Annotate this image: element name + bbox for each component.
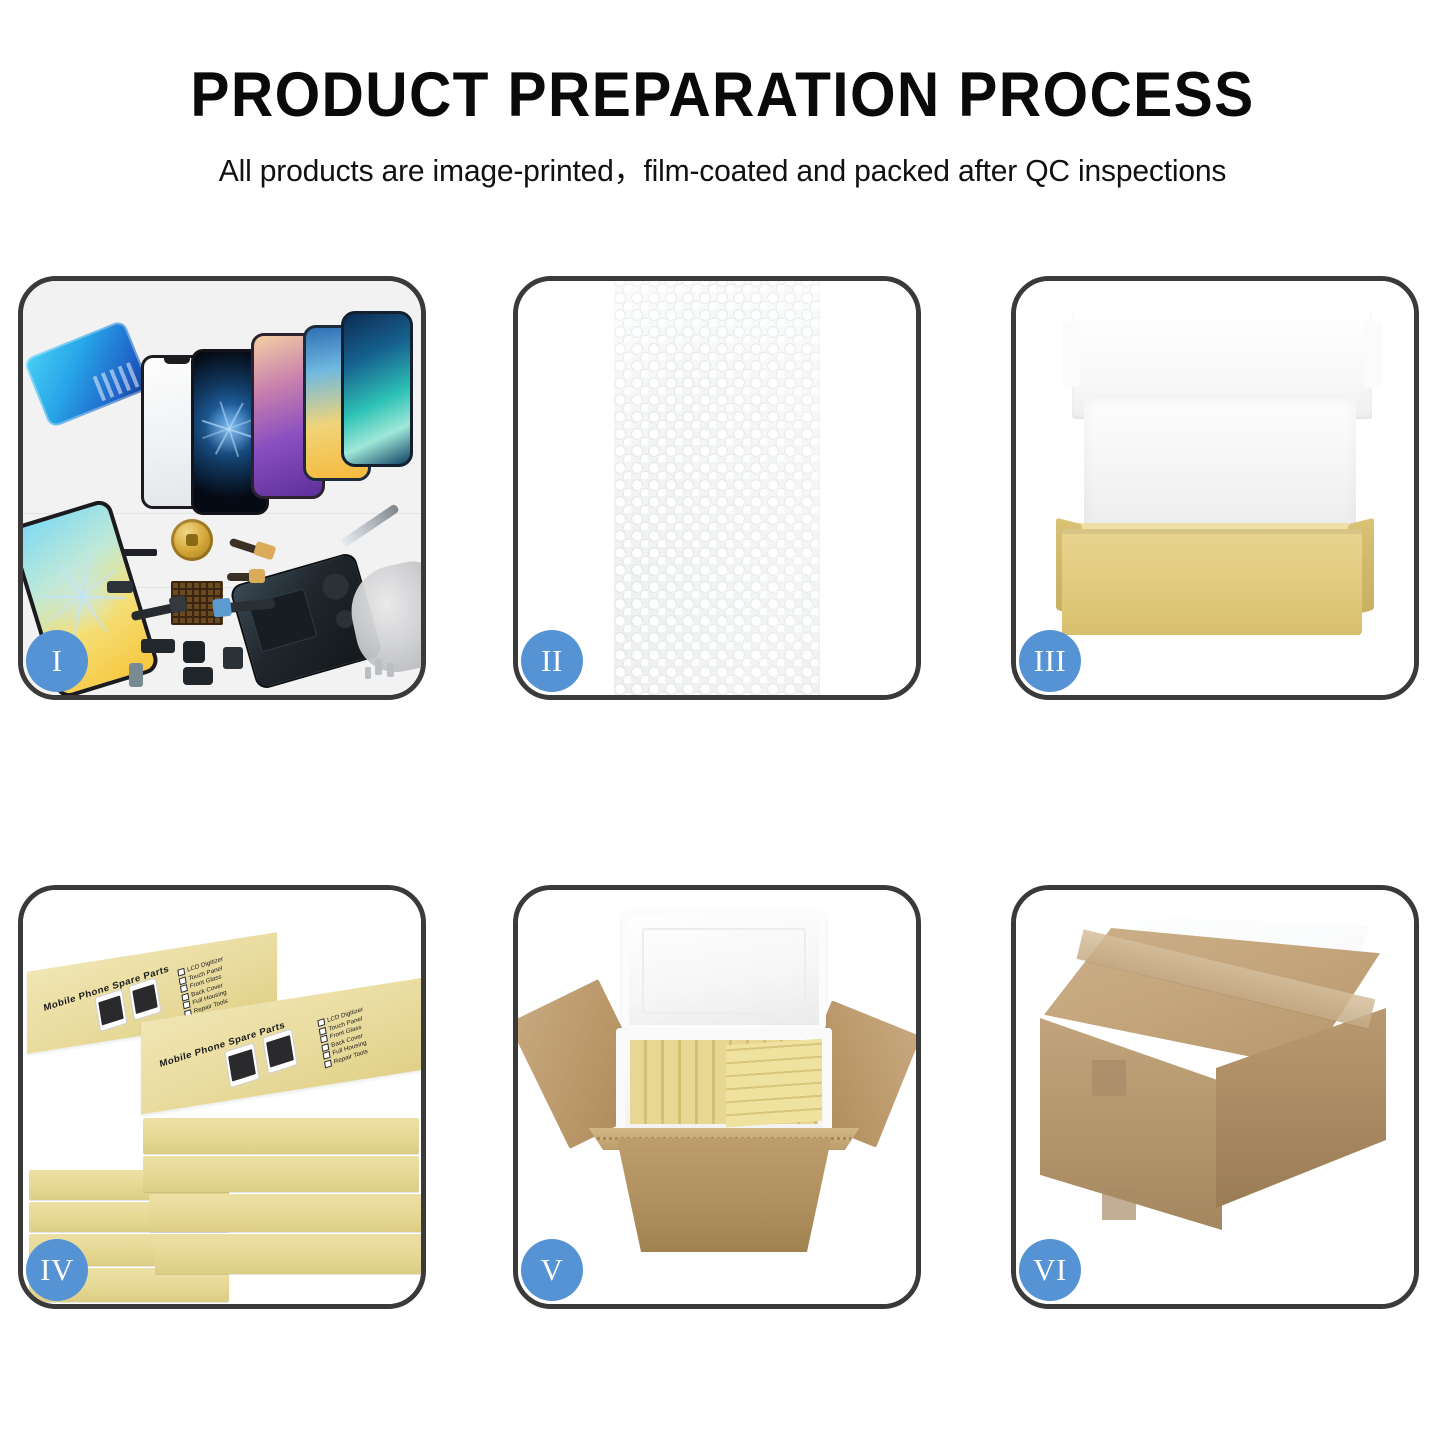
carton-tab (1102, 1186, 1136, 1220)
step-badge-iii: III (1019, 630, 1081, 692)
component-part (141, 639, 175, 653)
step-badge-iv: IV (26, 1239, 88, 1301)
speaker-module-icon (171, 519, 213, 561)
foam-sheet-image (1084, 399, 1356, 531)
step-panel-iv[interactable]: Mobile Phone Spare Parts LCD Digitizer T… (18, 885, 426, 1309)
plastic-sheen-overlay (518, 281, 916, 695)
step-panel-iii[interactable]: III (1011, 276, 1419, 700)
sim-tray-part (129, 663, 143, 687)
process-row-top: I II (0, 276, 1445, 700)
component-part (183, 667, 213, 685)
box-front-panel (1062, 529, 1362, 635)
step-panel-ii[interactable]: II (513, 276, 921, 700)
step-image-iv: Mobile Phone Spare Parts LCD Digitizer T… (23, 890, 421, 1304)
tweezers-icon (340, 503, 400, 547)
step-image-v (518, 890, 916, 1304)
step-badge-vi: VI (1019, 1239, 1081, 1301)
phone-parts-scene (23, 281, 421, 695)
stacked-box (143, 1118, 419, 1154)
box-checklist-b: LCD Digitizer Touch Panel Front Glass Ba… (317, 1006, 370, 1069)
page-subtitle: All products are image-printed，film-coat… (11, 146, 1434, 190)
step-image-i (23, 281, 421, 695)
box-phone-thumb (224, 1042, 260, 1088)
step-panel-vi[interactable]: VI (1011, 885, 1419, 1309)
step-panel-i[interactable]: I (18, 276, 426, 700)
step-image-iii (1016, 281, 1414, 695)
carton-body (602, 1138, 846, 1252)
packed-yellow-boxes (726, 1039, 822, 1128)
component-part (183, 641, 205, 663)
open-inner-box-scene (1016, 281, 1414, 695)
stacked-box (149, 1194, 421, 1232)
screw-part (375, 659, 382, 675)
step-badge-v: V (521, 1239, 583, 1301)
process-row-bottom: Mobile Phone Spare Parts LCD Digitizer T… (0, 885, 1445, 1309)
foam-cooler-lid (622, 910, 826, 1032)
carton-tab (1092, 1060, 1126, 1096)
stacked-box (155, 1234, 421, 1274)
box-phone-thumb (128, 977, 161, 1020)
sealed-carton-scene (1016, 890, 1414, 1304)
box-phone-thumb (94, 989, 127, 1032)
screw-part (365, 667, 371, 679)
foam-cooler-scene (518, 890, 916, 1304)
earpiece-part (123, 549, 157, 556)
page-header: PRODUCT PREPARATION PROCESS All products… (0, 0, 1445, 190)
step-image-vi (1016, 890, 1414, 1304)
process-steps-grid: I II (0, 276, 1445, 1309)
gold-connector-part (229, 538, 266, 557)
gold-connector-part (227, 573, 257, 581)
stacked-boxes-scene: Mobile Phone Spare Parts LCD Digitizer T… (23, 890, 421, 1304)
bubble-wrap-scene (518, 281, 916, 695)
box-phone-thumb (262, 1028, 298, 1074)
component-part (223, 647, 243, 669)
step-image-ii (518, 281, 916, 695)
stacked-box (143, 1156, 419, 1192)
step-badge-ii: II (521, 630, 583, 692)
screw-part (387, 663, 394, 677)
blue-backplate-image (23, 319, 151, 428)
page-title: PRODUCT PREPARATION PROCESS (51, 62, 1395, 128)
step-panel-v[interactable]: V (513, 885, 921, 1309)
teal-phone-image (341, 311, 413, 467)
component-part (107, 581, 133, 593)
step-badge-i: I (26, 630, 88, 692)
